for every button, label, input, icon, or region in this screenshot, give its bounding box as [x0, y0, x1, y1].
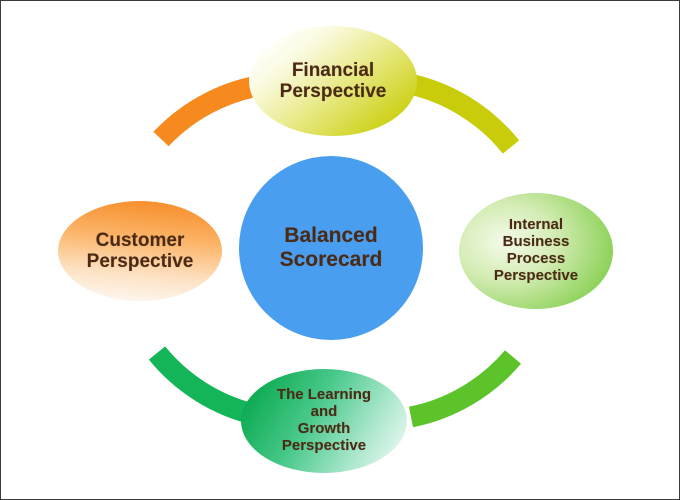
diagram-canvas — [1, 1, 680, 500]
node-customer[interactable] — [58, 201, 222, 301]
node-learning-growth[interactable] — [241, 369, 407, 473]
arc-internal-to-learning — [411, 357, 513, 417]
node-internal-business-process[interactable] — [459, 193, 613, 309]
node-center-balanced-scorecard[interactable] — [239, 156, 423, 340]
balanced-scorecard-diagram: Balanced Scorecard Financial Perspective… — [0, 0, 680, 500]
node-financial[interactable] — [249, 26, 417, 136]
arc-financial-to-internal — [405, 83, 511, 147]
arc-customer-to-financial — [161, 85, 263, 139]
arc-learning-to-customer — [157, 353, 257, 415]
